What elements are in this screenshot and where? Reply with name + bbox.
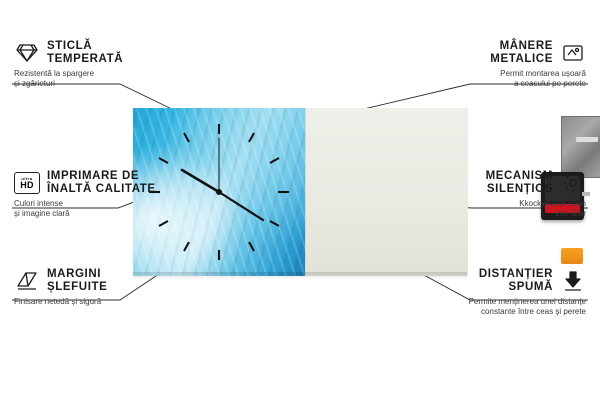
infographic-stage: STICLĂTEMPERATĂ Rezistentă la spargere ș… <box>0 0 600 400</box>
label-title-line2: TEMPERATĂ <box>47 53 123 65</box>
gear-icon <box>560 170 586 196</box>
label-manere-metalice: MÂNEREMETALICE Permit montarea ușoară a … <box>396 40 586 89</box>
bevel-edge-icon <box>14 268 40 294</box>
label-imprimare-hd: ultra HD IMPRIMARE DEÎNALTĂ CALITATE Cul… <box>14 170 189 219</box>
label-sub-line2: constante între ceas și perete <box>481 307 586 316</box>
label-title-line2: SILENȚIOS <box>487 183 553 195</box>
label-margini-slefuite: MARGINIȘLEFUITE Finisare netedă și sigur… <box>14 268 189 307</box>
label-title-line2: ȘLEFUITE <box>47 281 107 293</box>
label-sub-line2: și zgârieturi <box>14 79 55 88</box>
diamond-icon <box>14 40 40 66</box>
label-sub-line1: Permite menținerea unei distanțe <box>469 297 586 306</box>
label-title-line1: MÂNERE <box>500 40 553 52</box>
label-title-line2: ÎNALTĂ CALITATE <box>47 183 156 195</box>
label-sub-line1: Culori intense <box>14 199 63 208</box>
hanger-slot <box>576 137 598 142</box>
metal-hanger-plate <box>561 116 600 178</box>
label-title-line1: IMPRIMARE DE <box>47 170 139 182</box>
label-sub-line2: a ceasului pe perete <box>514 79 586 88</box>
clock-minute-hand <box>219 192 263 220</box>
label-sticla-temperata: STICLĂTEMPERATĂ Rezistentă la spargere ș… <box>14 40 174 89</box>
label-sub-line2: inte låter <box>555 209 586 218</box>
label-sub-line1: Kkockvisarse soun <box>519 199 586 208</box>
ultra-hd-icon: ultra HD <box>14 170 40 196</box>
label-sub-line1: Rezistentă la spargere <box>14 69 94 78</box>
ultra-hd-badge-big: HD <box>20 181 34 190</box>
label-title-line1: DISTANȚIER <box>479 268 553 280</box>
label-title-line1: MARGINI <box>47 268 101 280</box>
label-mecanism-silentios: MECANISMSILENȚIOS Kkockvisarse soun inte… <box>396 170 586 219</box>
label-title-line1: MECANISM <box>486 170 553 182</box>
clock-center-cap <box>216 189 222 195</box>
download-arrow-icon <box>560 268 586 294</box>
label-title-line1: STICLĂ <box>47 40 92 52</box>
label-sub-line1: Permit montarea ușoară <box>500 69 586 78</box>
label-title-line2: SPUMĂ <box>508 281 553 293</box>
orange-foam-spacer <box>561 248 583 264</box>
label-sub-line2: și imagine clară <box>14 209 70 218</box>
label-sub-line1: Finisare netedă și sigură <box>14 297 101 306</box>
hanger-icon <box>560 40 586 66</box>
label-title-line2: METALICE <box>490 53 553 65</box>
label-distantier-spuma: DISTANȚIERSPUMĂ Permite menținerea unei … <box>366 268 586 317</box>
